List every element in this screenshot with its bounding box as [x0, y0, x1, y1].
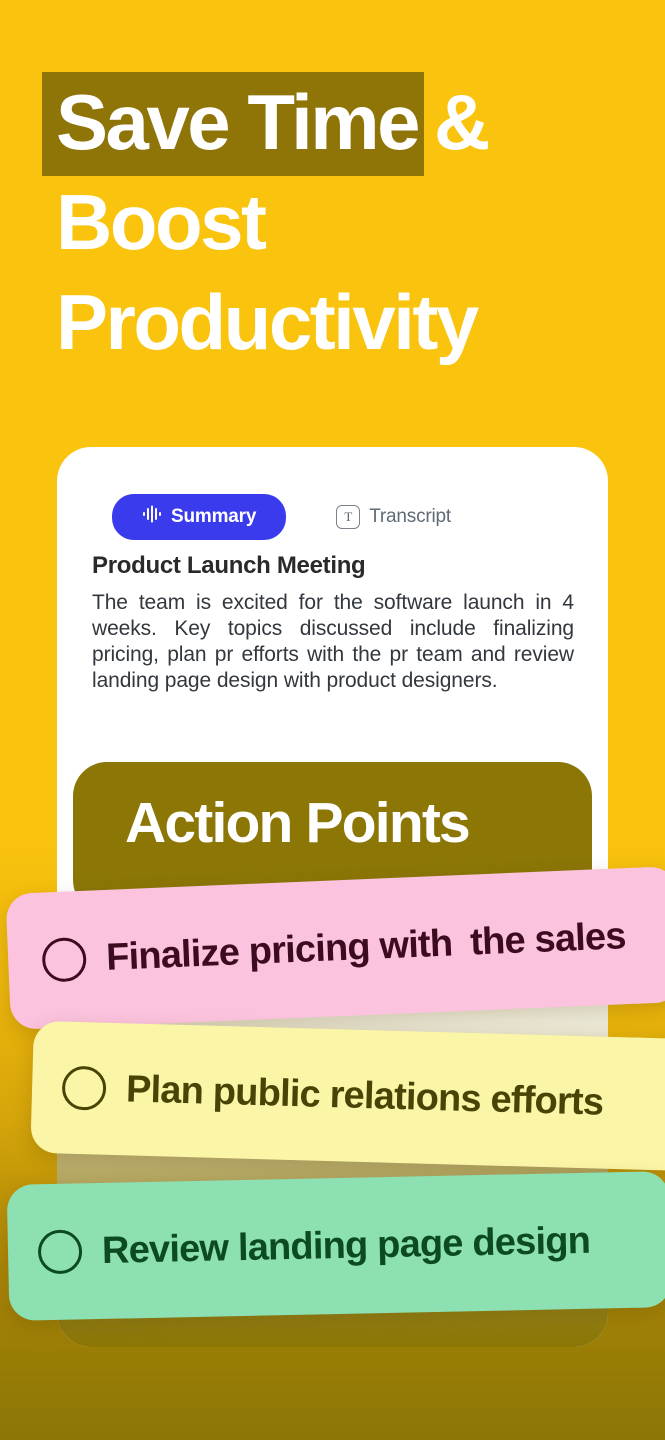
checkbox-circle-icon[interactable] — [38, 1229, 83, 1274]
text-box-icon: T — [336, 505, 360, 529]
tab-summary[interactable]: Summary — [112, 494, 286, 540]
tab-bar: Summary T Transcript — [112, 494, 451, 540]
summary-body: The team is excited for the software lau… — [92, 590, 574, 694]
tab-transcript[interactable]: T Transcript — [336, 494, 451, 540]
headline-line-2: Boost — [42, 172, 642, 272]
action-point-card-2[interactable]: Plan public relations efforts — [30, 1021, 665, 1171]
tab-summary-label: Summary — [171, 506, 256, 528]
action-point-label-1: Finalize pricing withthe sales — [105, 915, 626, 980]
action-point-label-3: Review landing page design — [102, 1219, 591, 1272]
checkbox-circle-icon[interactable] — [62, 1066, 107, 1111]
headline-line-1: Save Time& — [42, 72, 642, 172]
tab-transcript-label: Transcript — [369, 506, 451, 528]
promo-screen: Save Time& Boost Productivity — [0, 0, 665, 1440]
checkbox-circle-icon[interactable] — [41, 937, 87, 983]
headline-ampersand: & — [424, 78, 488, 166]
headline: Save Time& Boost Productivity — [42, 72, 642, 372]
waveform-icon — [142, 505, 162, 529]
action-point-label-2: Plan public relations efforts — [125, 1068, 603, 1124]
summary-title: Product Launch Meeting — [92, 552, 365, 580]
action-point-card-3[interactable]: Review landing page design — [7, 1171, 665, 1321]
action-point-card-1[interactable]: Finalize pricing withthe sales — [5, 866, 665, 1030]
headline-highlight: Save Time — [42, 72, 424, 176]
action-points-heading: Action Points — [125, 790, 469, 856]
headline-line-3: Productivity — [42, 272, 642, 372]
